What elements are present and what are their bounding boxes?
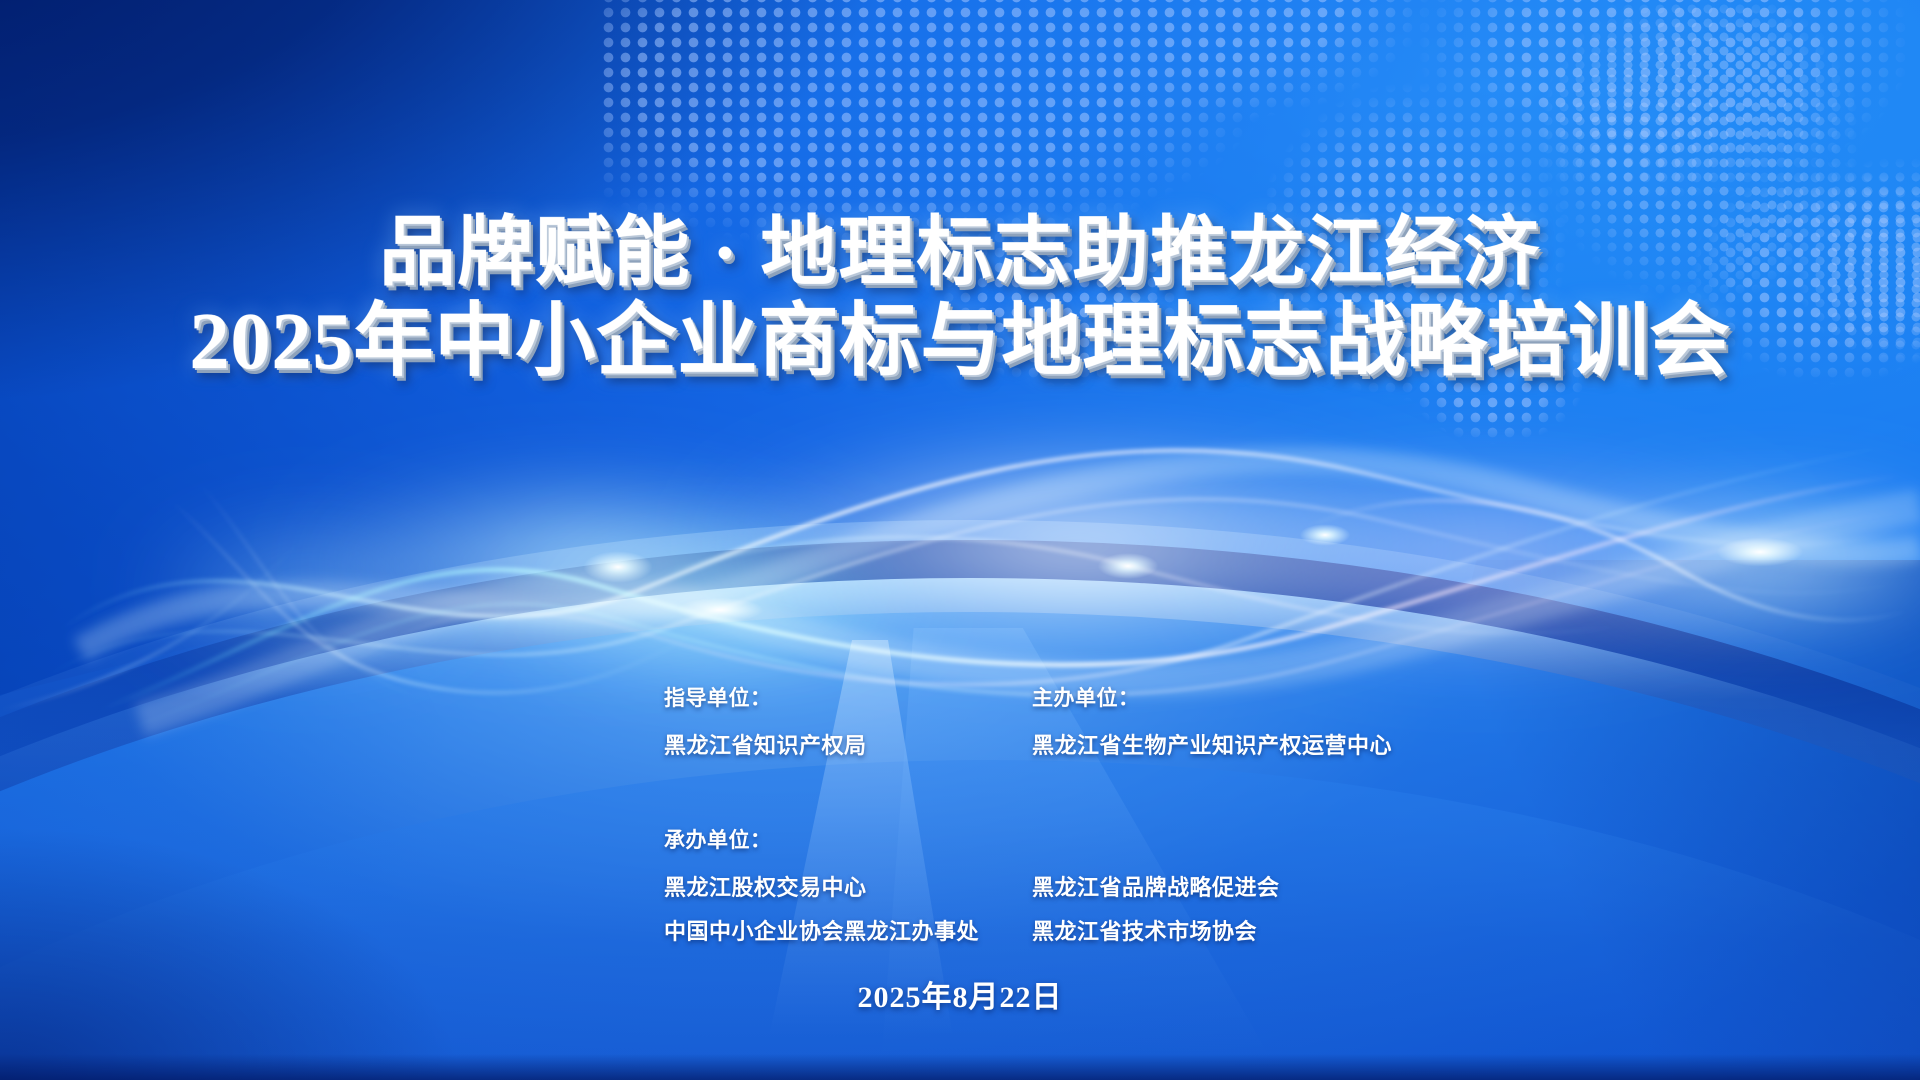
org-block-guidance: 指导单位： 黑龙江省知识产权局 xyxy=(664,682,1032,772)
org-block-organizer-heading: 承办单位： xyxy=(664,824,1032,870)
org-name-organizer-right-1: 黑龙江省品牌战略促进会 xyxy=(1032,870,1422,902)
banner-content: 品牌赋能 · 地理标志助推龙江经济 2025年中小企业商标与地理标志战略培训会 … xyxy=(0,0,1920,1080)
org-name-organizer-left-1: 黑龙江股权交易中心 xyxy=(664,870,1032,902)
title-line-1: 品牌赋能 · 地理标志助推龙江经济 xyxy=(0,210,1920,297)
org-name-host-1: 黑龙江省生物产业知识产权运营中心 xyxy=(1032,728,1422,760)
org-row-guidance-host: 指导单位： 黑龙江省知识产权局 主办单位： 黑龙江省生物产业知识产权运营中心 xyxy=(664,682,1484,772)
event-date: 2025年8月22日 xyxy=(0,972,1920,1016)
banner-title: 品牌赋能 · 地理标志助推龙江经济 2025年中小企业商标与地理标志战略培训会 xyxy=(0,210,1920,388)
org-cell-organizer-right-2: 黑龙江省技术市场协会 xyxy=(1032,914,1422,958)
org-heading-organizer: 承办单位： xyxy=(664,824,1032,854)
org-row-organizer-2: 中国中小企业协会黑龙江办事处 黑龙江省技术市场协会 xyxy=(664,914,1484,958)
organization-credits: 指导单位： 黑龙江省知识产权局 主办单位： 黑龙江省生物产业知识产权运营中心 承… xyxy=(664,682,1484,958)
org-cell-organizer-right-1: 黑龙江省品牌战略促进会 xyxy=(1032,870,1422,914)
title-line-2: 2025年中小企业商标与地理标志战略培训会 xyxy=(0,297,1920,388)
org-name-guidance-1: 黑龙江省知识产权局 xyxy=(664,728,1032,760)
bottom-edge-shadow xyxy=(0,1054,1920,1080)
org-block-spacer xyxy=(664,772,1484,824)
org-heading-guidance: 指导单位： xyxy=(664,682,1032,712)
org-row-organizer-heading: 承办单位： xyxy=(664,824,1484,870)
banner-poster: 品牌赋能 · 地理标志助推龙江经济 2025年中小企业商标与地理标志战略培训会 … xyxy=(0,0,1920,1080)
org-heading-host: 主办单位： xyxy=(1032,682,1422,712)
org-name-organizer-right-2: 黑龙江省技术市场协会 xyxy=(1032,914,1422,946)
org-cell-organizer-left-2: 中国中小企业协会黑龙江办事处 xyxy=(664,914,1032,958)
org-block-host: 主办单位： 黑龙江省生物产业知识产权运营中心 xyxy=(1032,682,1422,772)
org-name-organizer-left-2: 中国中小企业协会黑龙江办事处 xyxy=(664,914,1032,946)
org-cell-organizer-left-1: 黑龙江股权交易中心 xyxy=(664,870,1032,914)
org-row-organizer-1: 黑龙江股权交易中心 黑龙江省品牌战略促进会 xyxy=(664,870,1484,914)
